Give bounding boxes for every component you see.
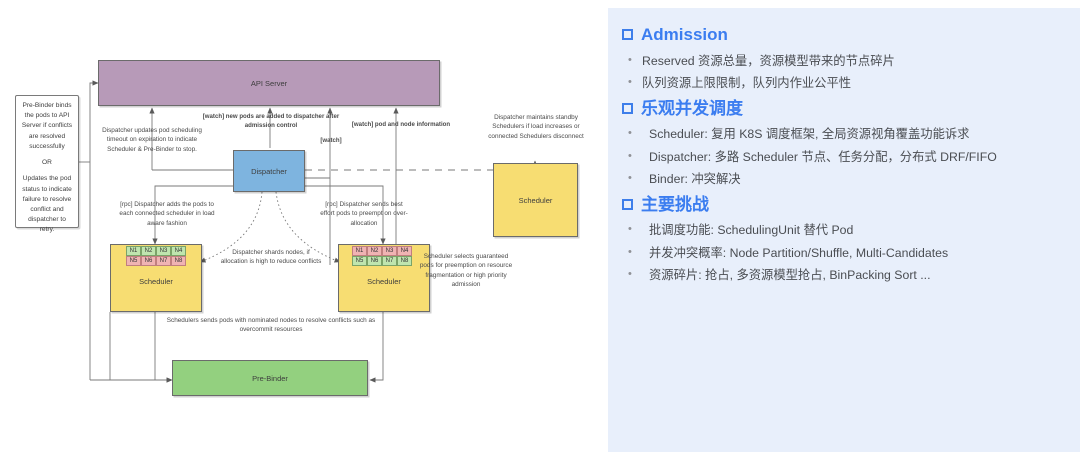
node-pre-binder[interactable]: Pre-Binder — [172, 360, 368, 396]
section-heading-admission: Admission — [622, 22, 1068, 48]
node-dispatcher-label: Dispatcher — [251, 167, 287, 176]
scheduler-right-nodes: N1 N2 N3 N4 N5 N6 N7 N8 — [352, 246, 412, 266]
node-chip: N1 — [126, 246, 141, 256]
node-chip: N7 — [156, 256, 171, 266]
node-chip: N3 — [156, 246, 171, 256]
note-pre-binder: Pre-Binder binds the pods to API Server … — [15, 95, 79, 228]
architecture-diagram: API Server Dispatcher Scheduler N1 N2 N3… — [0, 0, 600, 463]
note-line: OR — [20, 158, 74, 168]
list-item-label: 资源碎片: 抢占, 多资源模型抢占, BinPacking Sort ... — [642, 266, 931, 285]
node-chip: N2 — [367, 246, 382, 256]
node-chip: N6 — [141, 256, 156, 266]
node-chip: N4 — [171, 246, 186, 256]
checkbox-icon — [622, 199, 633, 210]
note-line: conflict and — [20, 205, 74, 215]
scheduler-left-nodes: N1 N2 N3 N4 N5 N6 N7 N8 — [126, 246, 186, 266]
label-rpc-dispatcher-adds: [rpc] Dispatcher adds the pods to each c… — [118, 200, 216, 228]
note-line: are resolved — [20, 132, 74, 142]
note-line: successfully — [20, 142, 74, 152]
node-chip-row-top: N1 N2 N3 N4 — [126, 246, 186, 256]
bullet-icon: • — [628, 74, 635, 93]
note-line: status to indicate — [20, 185, 74, 195]
node-chip: N8 — [171, 256, 186, 266]
node-api-server-label: API Server — [251, 79, 287, 88]
bullet-icon: • — [628, 52, 635, 71]
label-preemption: Scheduler selects guaranteed pods for pr… — [418, 252, 514, 289]
label-rpc-best-effort: [rpc] Dispatcher sends best effort pods … — [318, 200, 410, 228]
list-item-label: Dispatcher: 多路 Scheduler 节点、任务分配，分布式 DRF… — [642, 148, 997, 167]
section-heading-main-challenges: 主要挑战 — [622, 192, 1068, 218]
note-line: the pods to API — [20, 111, 74, 121]
list-item-label: Binder: 冲突解决 — [642, 170, 741, 189]
label-watch-pod-node: [watch] pod and node information — [345, 121, 457, 130]
node-chip: N2 — [141, 246, 156, 256]
list-item: • Reserved 资源总量，资源模型带来的节点碎片 — [622, 52, 1068, 71]
label-dispatcher-shards: Dispatcher shards nodes, if allocation i… — [218, 248, 324, 267]
list-item: • 资源碎片: 抢占, 多资源模型抢占, BinPacking Sort ... — [622, 266, 1068, 285]
label-dispatcher-updates: Dispatcher updates pod scheduling timeou… — [96, 126, 208, 154]
node-scheduler-left-label: Scheduler — [111, 277, 201, 286]
bullet-icon: • — [628, 125, 635, 144]
bullet-icon: • — [628, 221, 635, 240]
node-chip-row-bottom: N5 N6 N7 N8 — [352, 256, 412, 266]
section-heading-optimistic-scheduling: 乐观并发调度 — [622, 96, 1068, 122]
list-item: • Dispatcher: 多路 Scheduler 节点、任务分配，分布式 D… — [622, 148, 1068, 167]
node-chip-row-bottom: N5 N6 N7 N8 — [126, 256, 186, 266]
node-dispatcher[interactable]: Dispatcher — [233, 150, 305, 192]
list-item-label: 批调度功能: SchedulingUnit 替代 Pod — [642, 221, 853, 240]
node-chip: N3 — [382, 246, 397, 256]
note-line: Updates the pod — [20, 174, 74, 184]
list-item-label: 队列资源上限限制，队列内作业公平性 — [642, 74, 851, 93]
note-line: Pre-Binder binds — [20, 101, 74, 111]
node-chip: N4 — [397, 246, 412, 256]
list-item: • 队列资源上限限制，队列内作业公平性 — [622, 74, 1068, 93]
checkbox-icon — [622, 103, 633, 114]
node-api-server[interactable]: API Server — [98, 60, 440, 106]
node-chip: N6 — [367, 256, 382, 266]
node-chip: N5 — [126, 256, 141, 266]
list-item: • Binder: 冲突解决 — [622, 170, 1068, 189]
section-heading-label: 主要挑战 — [641, 192, 709, 218]
list-item: • 并发冲突概率: Node Partition/Shuffle, Multi-… — [622, 244, 1068, 263]
note-line: Server if conflicts — [20, 121, 74, 131]
bullet-icon: • — [628, 266, 635, 285]
note-line: failure to resolve — [20, 195, 74, 205]
list-item-label: Scheduler: 复用 K8S 调度框架, 全局资源视角覆盖功能诉求 — [642, 125, 969, 144]
node-scheduler-standby-label: Scheduler — [519, 196, 553, 205]
list-item: • 批调度功能: SchedulingUnit 替代 Pod — [622, 221, 1068, 240]
checkbox-icon — [622, 29, 633, 40]
bullet-icon: • — [628, 148, 635, 167]
node-scheduler-standby[interactable]: Scheduler — [493, 163, 578, 237]
node-chip: N7 — [382, 256, 397, 266]
section-heading-label: 乐观并发调度 — [641, 96, 743, 122]
bullet-icon: • — [628, 170, 635, 189]
note-line: dispatcher to — [20, 215, 74, 225]
note-line: retry. — [20, 225, 74, 235]
node-scheduler-right-label: Scheduler — [339, 277, 429, 286]
bullet-panel: Admission • Reserved 资源总量，资源模型带来的节点碎片 • … — [608, 8, 1080, 452]
list-item-label: 并发冲突概率: Node Partition/Shuffle, Multi-Ca… — [642, 244, 948, 263]
label-watch: [watch] — [311, 137, 351, 146]
list-item: • Scheduler: 复用 K8S 调度框架, 全局资源视角覆盖功能诉求 — [622, 125, 1068, 144]
label-standby-schedulers: Dispatcher maintains standby Schedulers … — [480, 113, 592, 141]
label-watch-new-pods: [watch] new pods are added to dispatcher… — [196, 113, 346, 131]
node-pre-binder-label: Pre-Binder — [252, 374, 288, 383]
label-nominated-nodes: Schedulers sends pods with nominated nod… — [156, 316, 386, 335]
bullet-icon: • — [628, 244, 635, 263]
node-chip: N8 — [397, 256, 412, 266]
list-item-label: Reserved 资源总量，资源模型带来的节点碎片 — [642, 52, 895, 71]
section-heading-label: Admission — [641, 22, 728, 48]
node-chip: N5 — [352, 256, 367, 266]
node-chip-row-top: N1 N2 N3 N4 — [352, 246, 412, 256]
node-chip: N1 — [352, 246, 367, 256]
